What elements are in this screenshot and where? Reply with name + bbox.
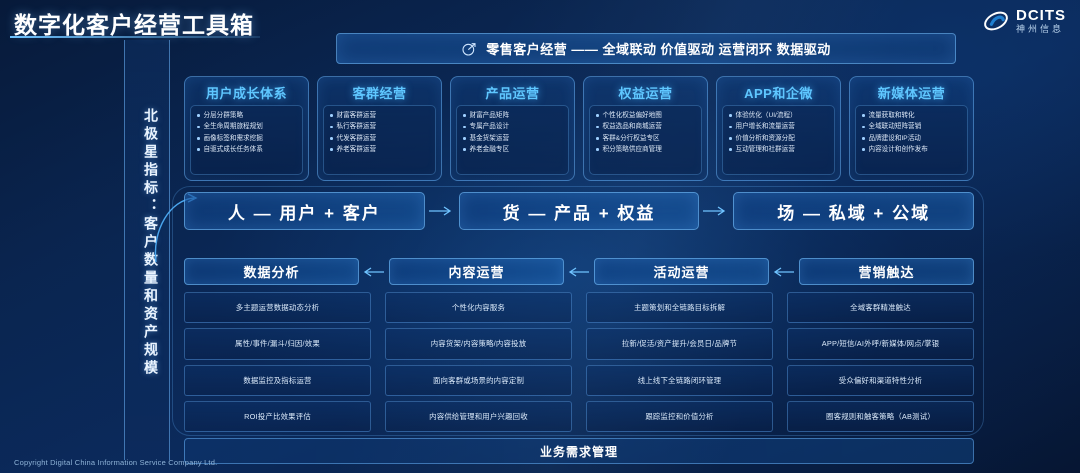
pillar-item: 代发客群运营 xyxy=(330,133,431,144)
pillar-card[interactable]: APP和企微 体验优化（UI/流程） 用户增长和流量运营 价值分析和资源分配 互… xyxy=(716,76,841,181)
arrow-right-icon xyxy=(425,205,459,217)
pillar-card-body: 分层分群策略 全生命周期旅程规划 画像标签和需求挖掘 自驱式成长任务体系 xyxy=(190,105,303,175)
pillar-item: 财富产品矩阵 xyxy=(463,110,564,121)
section-header-content-ops[interactable]: 内容运营 xyxy=(389,258,564,285)
capability-cell[interactable]: 内容供给管理和用户兴趣回收 xyxy=(385,401,572,432)
capability-grid: 多主题运营数据动态分析 属性/事件/漏斗/归因/效果 数据监控及指标运营 ROI… xyxy=(184,292,974,432)
pillar-card[interactable]: 产品运营 财富产品矩阵 专属产品设计 基金货架运营 养老金融专区 xyxy=(450,76,575,181)
pillar-card-body: 个性化权益偏好地图 权益选品和商城运营 客群&分行权益专区 积分策略供应商管理 xyxy=(589,105,702,175)
pillar-item: 互动管理和社群运营 xyxy=(729,144,830,155)
capability-cell[interactable]: 面向客群或场景的内容定制 xyxy=(385,365,572,396)
logo-text-cn: 神州信息 xyxy=(1016,25,1066,34)
capability-cell[interactable]: 线上线下全链路闭环管理 xyxy=(586,365,773,396)
pillar-item: 全域联动短阵营销 xyxy=(862,121,963,132)
capability-cell[interactable]: 多主题运营数据动态分析 xyxy=(184,292,371,323)
copyright-text: Copyright Digital China Information Serv… xyxy=(14,458,217,467)
pillar-item: 全生命周期旅程规划 xyxy=(197,121,298,132)
section-header-data-analysis[interactable]: 数据分析 xyxy=(184,258,359,285)
strategy-banner: 零售客户经营 —— 全域联动 价值驱动 运营闭环 数据驱动 xyxy=(336,33,956,64)
pillar-item: 财富客群运营 xyxy=(330,110,431,121)
pillar-card-title: 产品运营 xyxy=(456,81,569,105)
pillar-item: 流量获取和转化 xyxy=(862,110,963,121)
capability-cell[interactable]: 全域客群精准触达 xyxy=(787,292,974,323)
arrow-left-icon xyxy=(769,266,799,278)
capability-cell[interactable]: 主题策划和全链路目标拆解 xyxy=(586,292,773,323)
pillar-item: 基金货架运营 xyxy=(463,133,564,144)
pillar-item: 客群&分行权益专区 xyxy=(596,133,697,144)
pillar-card-body: 财富客群运营 私行客群运营 代发客群运营 养老客群运营 xyxy=(323,105,436,175)
capability-cell[interactable]: APP/短信/AI外呼/新媒体/网点/掌银 xyxy=(787,328,974,359)
pillar-card-title: 客群经营 xyxy=(323,81,436,105)
pillar-item: 专属产品设计 xyxy=(463,121,564,132)
pillar-item: 内容设计和创作发布 xyxy=(862,144,963,155)
pillar-card[interactable]: 权益运营 个性化权益偏好地图 权益选品和商城运营 客群&分行权益专区 积分策略供… xyxy=(583,76,708,181)
flow-row: 人 — 用户 + 客户 货 — 产品 + 权益 场 — 私域 + 公域 xyxy=(184,192,974,230)
strategy-banner-text: 零售客户经营 —— 全域联动 价值驱动 运营闭环 数据驱动 xyxy=(486,39,831,58)
pillar-item: 养老金融专区 xyxy=(463,144,564,155)
pillar-card-title: 权益运营 xyxy=(589,81,702,105)
capability-column: 主题策划和全链路目标拆解 拉新/促活/资产提升/会员日/品牌节 线上线下全链路闭… xyxy=(586,292,773,432)
capability-cell[interactable]: 数据监控及指标运营 xyxy=(184,365,371,396)
section-header-row: 数据分析 内容运营 活动运营 营销触达 xyxy=(184,258,974,285)
arrow-right-icon xyxy=(699,205,733,217)
target-arrow-icon xyxy=(461,41,477,57)
arrow-left-icon xyxy=(359,266,389,278)
capability-cell[interactable]: 拉新/促活/资产提升/会员日/品牌节 xyxy=(586,328,773,359)
pillar-card-title: 用户成长体系 xyxy=(190,81,303,105)
capability-cell[interactable]: 内容货架/内容策略/内容投放 xyxy=(385,328,572,359)
flow-box-goods[interactable]: 货 — 产品 + 权益 xyxy=(459,192,700,230)
pillar-item: 品牌建设和IP活动 xyxy=(862,133,963,144)
pillar-card[interactable]: 新媒体运营 流量获取和转化 全域联动短阵营销 品牌建设和IP活动 内容设计和创作… xyxy=(849,76,974,181)
pillar-item: 自驱式成长任务体系 xyxy=(197,144,298,155)
pillar-item: 养老客群运营 xyxy=(330,144,431,155)
capability-cell[interactable]: ROI投产比效果评估 xyxy=(184,401,371,432)
flow-box-field[interactable]: 场 — 私域 + 公域 xyxy=(733,192,974,230)
capability-column: 全域客群精准触达 APP/短信/AI外呼/新媒体/网点/掌银 受众偏好和渠道特性… xyxy=(787,292,974,432)
capability-cell[interactable]: 圈客规则和触客策略（AB测试） xyxy=(787,401,974,432)
arrow-left-icon xyxy=(564,266,594,278)
pillar-item: 个性化权益偏好地图 xyxy=(596,110,697,121)
flow-box-people[interactable]: 人 — 用户 + 客户 xyxy=(184,192,425,230)
pillar-item: 权益选品和商城运营 xyxy=(596,121,697,132)
section-header-campaign-ops[interactable]: 活动运营 xyxy=(594,258,769,285)
bottom-bar-business-demand[interactable]: 业务需求管理 xyxy=(184,438,974,464)
capability-cell[interactable]: 属性/事件/漏斗/归因/效果 xyxy=(184,328,371,359)
pillar-card-body: 财富产品矩阵 专属产品设计 基金货架运营 养老金融专区 xyxy=(456,105,569,175)
north-star-axis-label: 北极星指标：客户数量和资产规模 xyxy=(131,108,161,378)
section-header-marketing-reach[interactable]: 营销触达 xyxy=(799,258,974,285)
capability-column: 个性化内容服务 内容货架/内容策略/内容投放 面向客群或场景的内容定制 内容供给… xyxy=(385,292,572,432)
capability-cell[interactable]: 跟踪监控和价值分析 xyxy=(586,401,773,432)
brand-logo: DCITS 神州信息 xyxy=(983,8,1066,34)
pillar-card-title: APP和企微 xyxy=(722,81,835,105)
pillar-card-title: 新媒体运营 xyxy=(855,81,968,105)
pillar-item: 价值分析和资源分配 xyxy=(729,133,830,144)
pillar-item: 积分策略供应商管理 xyxy=(596,144,697,155)
capability-cell[interactable]: 个性化内容服务 xyxy=(385,292,572,323)
pillar-card[interactable]: 用户成长体系 分层分群策略 全生命周期旅程规划 画像标签和需求挖掘 自驱式成长任… xyxy=(184,76,309,181)
pillar-item: 体验优化（UI/流程） xyxy=(729,110,830,121)
title-underline xyxy=(10,36,260,38)
capability-cell[interactable]: 受众偏好和渠道特性分析 xyxy=(787,365,974,396)
pillar-item: 私行客群运营 xyxy=(330,121,431,132)
dcits-swirl-icon xyxy=(983,8,1009,34)
logo-text-en: DCITS xyxy=(1016,8,1066,23)
pillar-card[interactable]: 客群经营 财富客群运营 私行客群运营 代发客群运营 养老客群运营 xyxy=(317,76,442,181)
page-title: 数字化客户经营工具箱 xyxy=(14,6,254,40)
pillar-card-row: 用户成长体系 分层分群策略 全生命周期旅程规划 画像标签和需求挖掘 自驱式成长任… xyxy=(184,76,974,181)
pillar-card-body: 体验优化（UI/流程） 用户增长和流量运营 价值分析和资源分配 互动管理和社群运… xyxy=(722,105,835,175)
pillar-item: 用户增长和流量运营 xyxy=(729,121,830,132)
capability-column: 多主题运营数据动态分析 属性/事件/漏斗/归因/效果 数据监控及指标运营 ROI… xyxy=(184,292,371,432)
pillar-item: 画像标签和需求挖掘 xyxy=(197,133,298,144)
pillar-item: 分层分群策略 xyxy=(197,110,298,121)
pillar-card-body: 流量获取和转化 全域联动短阵营销 品牌建设和IP活动 内容设计和创作发布 xyxy=(855,105,968,175)
